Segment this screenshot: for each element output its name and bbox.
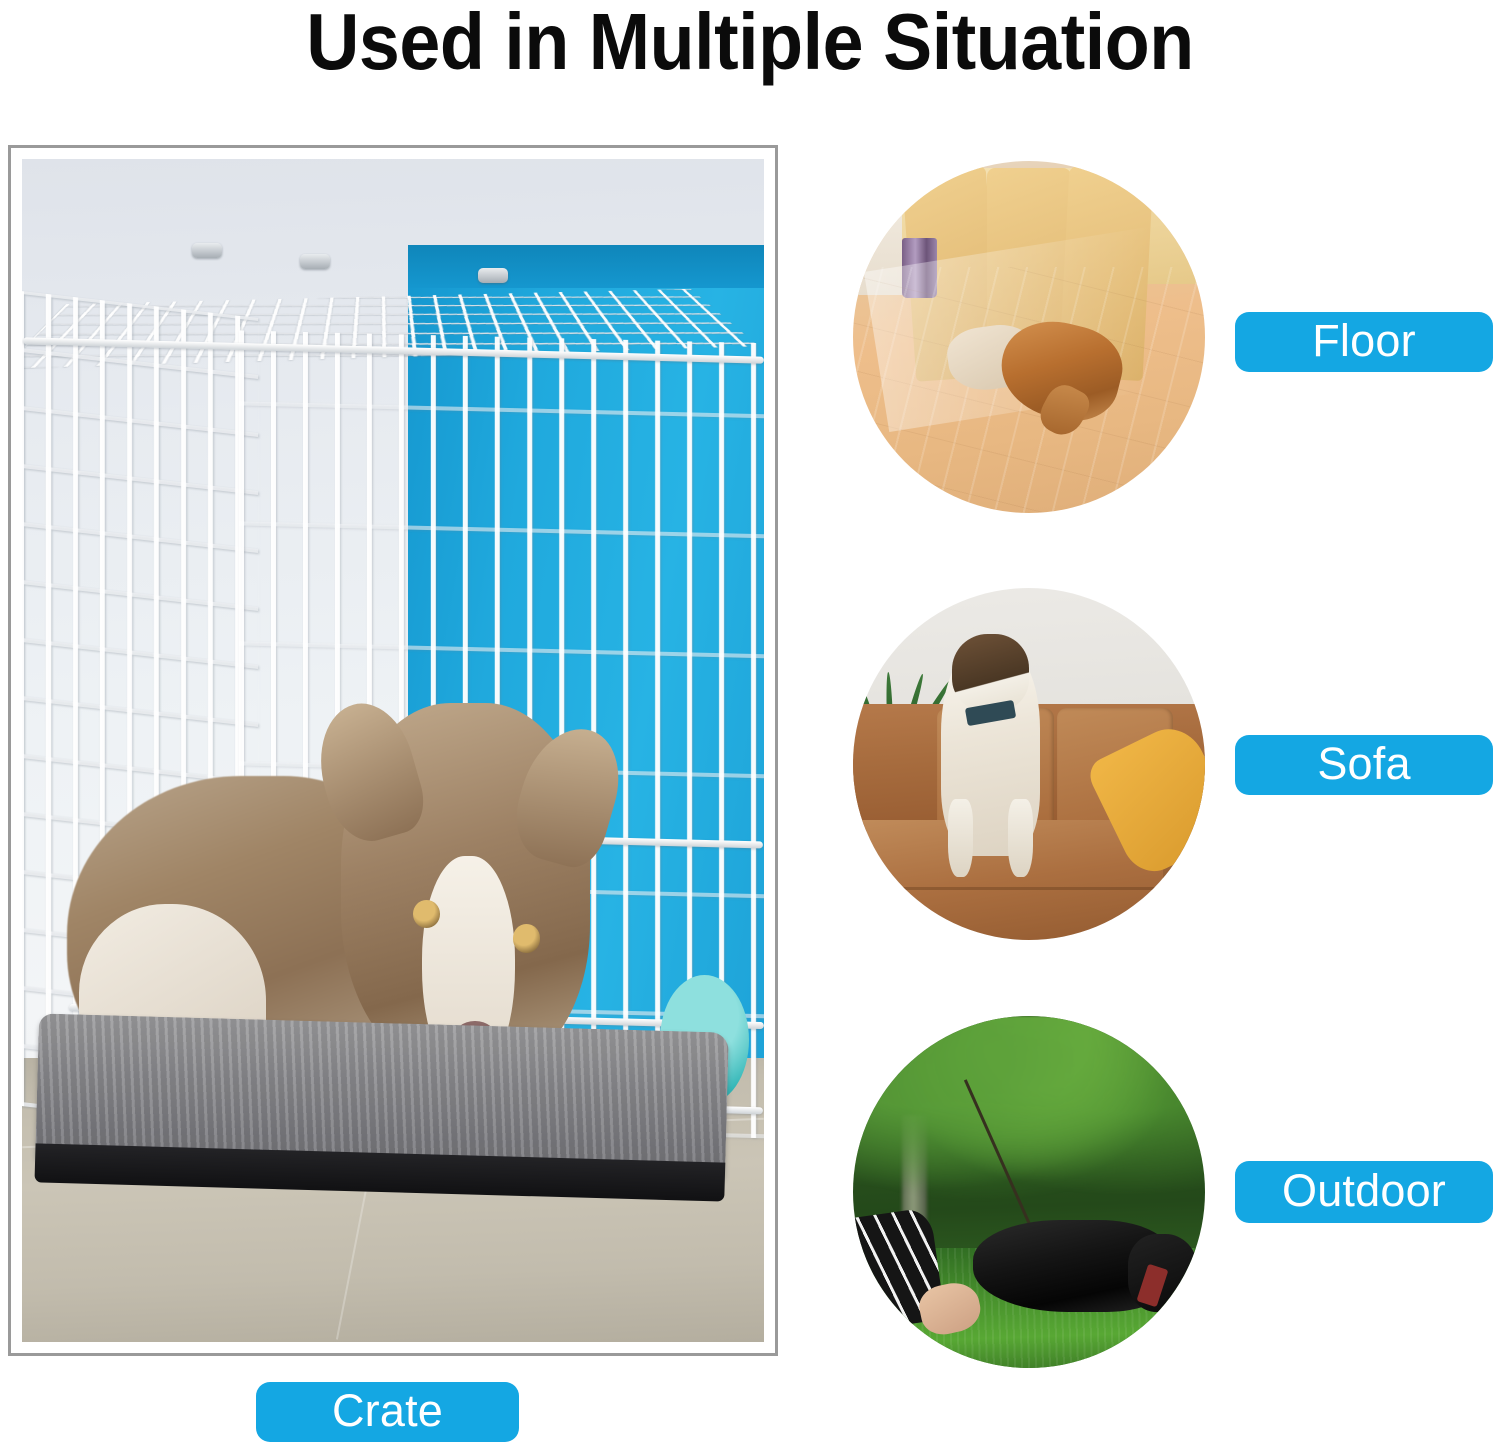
infographic-page: Used in Multiple Situation xyxy=(0,0,1500,1442)
badge-crate: Crate xyxy=(256,1382,519,1442)
sofa-dog-head xyxy=(952,634,1029,711)
badge-sofa: Sofa xyxy=(1235,735,1493,795)
badge-floor: Floor xyxy=(1235,312,1493,372)
sofa-dog-leg xyxy=(1008,799,1033,876)
crate-clamp xyxy=(300,254,330,269)
dog-eye xyxy=(513,924,540,952)
scene-floor xyxy=(853,161,1205,513)
sofa-dog-leg xyxy=(948,799,973,876)
badge-outdoor: Outdoor xyxy=(1235,1161,1493,1223)
scene-sofa xyxy=(853,588,1205,940)
sofa-photo xyxy=(853,588,1205,940)
scene-outdoor xyxy=(853,1016,1205,1368)
page-title: Used in Multiple Situation xyxy=(60,0,1440,88)
crate-clamp xyxy=(478,268,508,283)
floor-photo xyxy=(853,161,1205,513)
crate-photo-frame xyxy=(8,145,778,1356)
gray-plush-dog-bed xyxy=(35,1013,729,1180)
tree-canopy xyxy=(853,1016,1205,1213)
outdoor-photo xyxy=(853,1016,1205,1368)
crate-photo xyxy=(22,159,764,1342)
crate-clamp xyxy=(192,243,222,258)
